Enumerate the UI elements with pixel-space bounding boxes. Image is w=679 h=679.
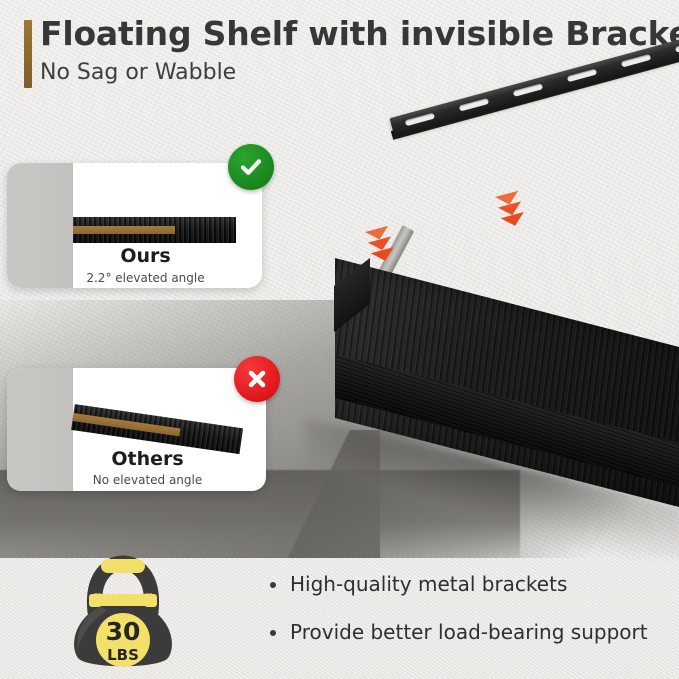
card-label-ours: Ours [29,245,262,267]
feature-list: High-quality metal brackets Provide bett… [268,572,668,668]
shelf-profile-sagging [71,404,243,454]
weight-unit: LBS [107,646,139,664]
card-wall-block [7,163,73,288]
list-item: High-quality metal brackets [268,572,668,596]
feature-text: High-quality metal brackets [290,572,567,596]
floating-shelf-board [335,258,679,508]
bullet-dot-icon [270,630,276,636]
bracket-slot [675,39,679,53]
bracket-slot [621,54,652,68]
comparison-card-others: Others No elevated angle [7,368,266,491]
bracket-slot [459,98,490,112]
shelf-core-layer [73,226,175,234]
weight-value: 30 [106,617,141,646]
header-accent-bar [24,20,32,88]
check-badge [228,144,274,190]
product-infographic: Floating Shelf with invisible Bracket No… [0,0,679,679]
page-subtitle: No Sag or Wabble [40,60,236,85]
list-item: Provide better load-bearing support [268,620,668,644]
comparison-card-ours: Ours 2.2° elevated angle [7,163,262,288]
page-title: Floating Shelf with invisible Bracket [40,16,679,53]
card-label-others: Others [29,448,266,470]
feature-text: Provide better load-bearing support [290,620,648,644]
bracket-slot [567,69,598,83]
shelf-profile-level [73,217,236,243]
bullet-dot-icon [270,582,276,588]
card-sublabel-others: No elevated angle [29,473,266,487]
bracket-slot [513,83,544,97]
bracket-slot [405,113,436,127]
weight-kettlebell-icon: 30 LBS [53,550,193,675]
card-sublabel-ours: 2.2° elevated angle [29,271,262,285]
cross-badge [234,356,280,402]
